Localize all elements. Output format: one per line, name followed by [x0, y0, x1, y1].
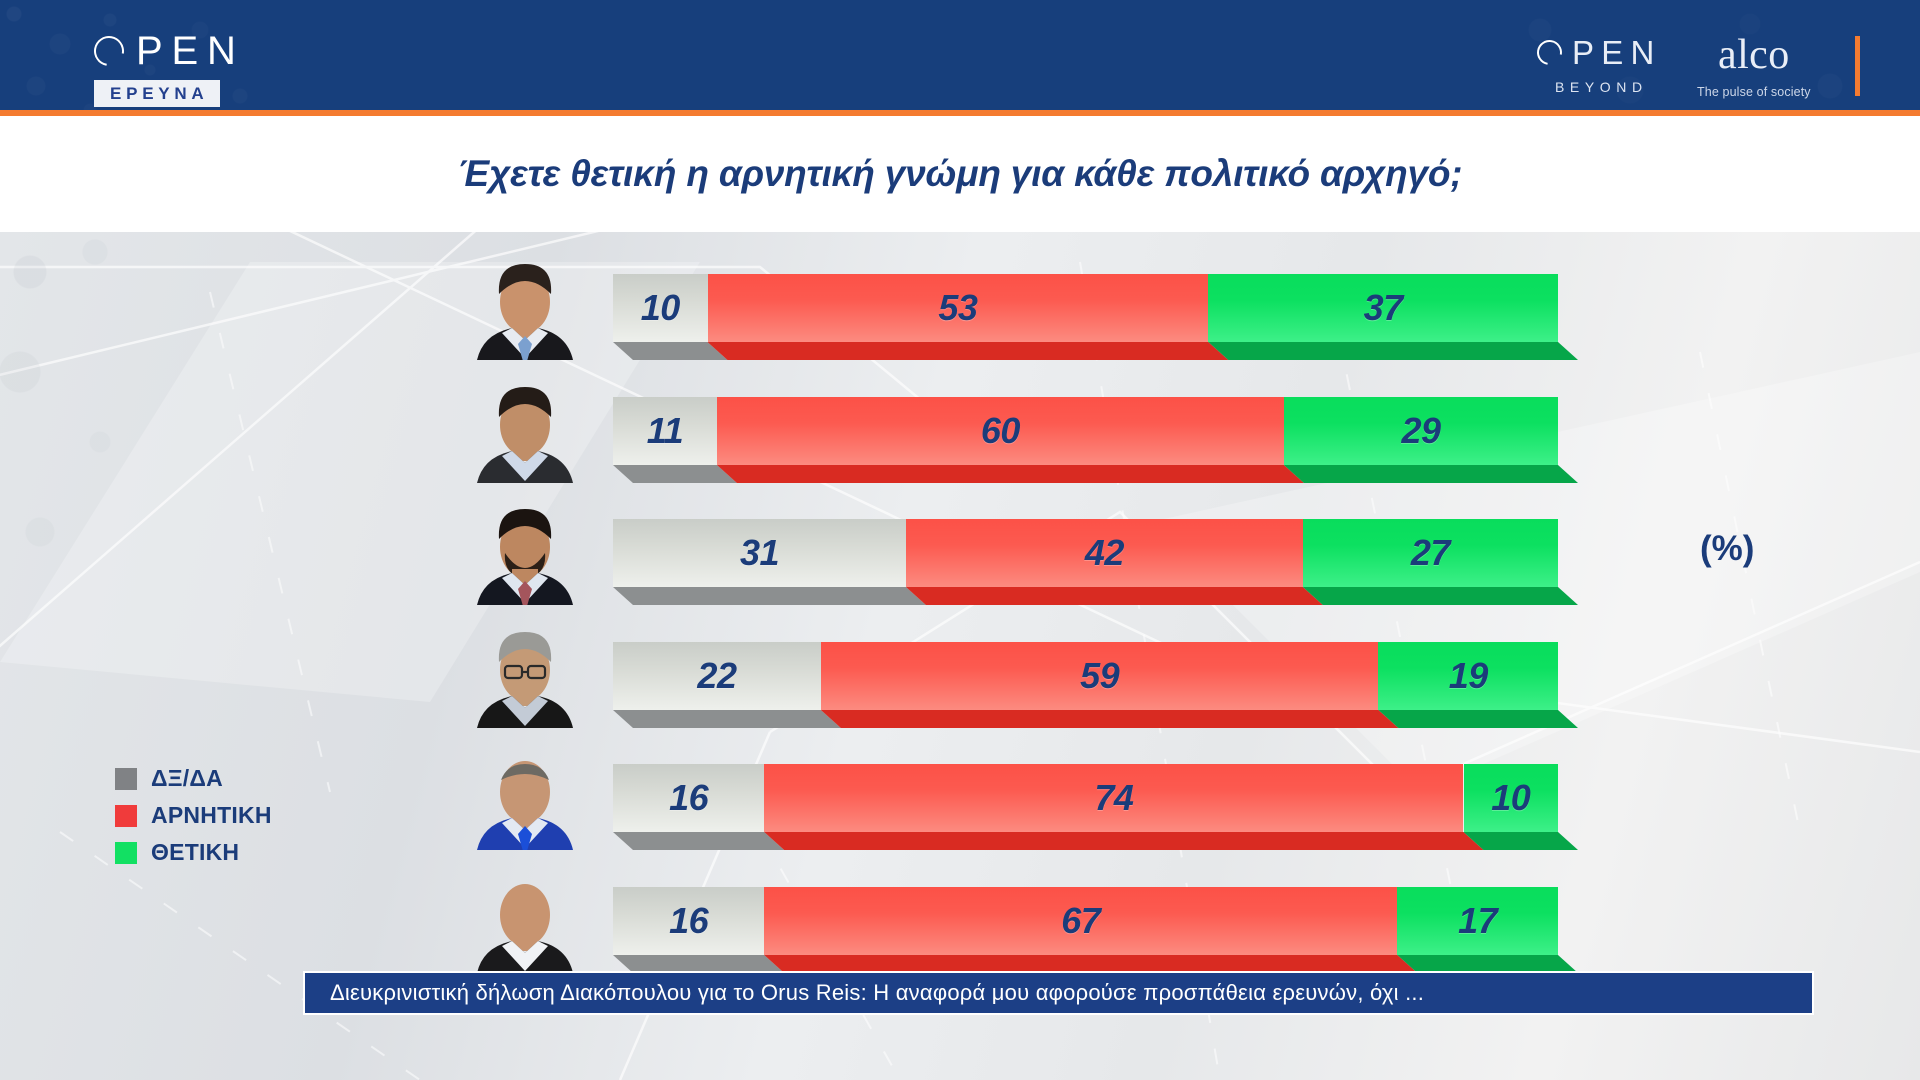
bar-segment-negative: 59	[821, 642, 1379, 710]
open-wordmark: PEN	[94, 30, 245, 72]
alco-tagline: The pulse of society	[1697, 85, 1811, 99]
bar-segment-positive: 37	[1208, 274, 1558, 342]
bar-segment-dk: 31	[613, 519, 906, 587]
bar-row: 314227	[0, 519, 1920, 603]
page-title: Έχετε θετική η αρνητική γνώμη για κάθε π…	[0, 116, 1920, 232]
bar-segment-dk: 16	[613, 887, 764, 955]
leader-portrait	[455, 495, 595, 605]
bar-segment-negative: 74	[764, 764, 1463, 832]
alco-name: alco	[1697, 34, 1811, 76]
bar-segment-positive: 29	[1284, 397, 1558, 465]
bar-segment-negative: 67	[764, 887, 1397, 955]
bar-row: 167410	[0, 764, 1920, 848]
bar-segment-dk: 10	[613, 274, 708, 342]
title-band: Έχετε θετική η αρνητική γνώμη για κάθε π…	[0, 116, 1920, 232]
chart-stage: ΔΞ/ΔΑ ΑΡΝΗΤΙΚΗ ΘΕΤΙΚΗ (%) 105337	[0, 232, 1920, 1080]
leader-portrait	[455, 740, 595, 850]
bar-3d-base	[613, 587, 1578, 605]
open-beyond-logo: PEN BEYOND	[1537, 34, 1662, 95]
stacked-bar: 314227	[613, 519, 1558, 587]
leader-portrait	[455, 373, 595, 483]
open-beyond-o-glyph-icon	[1532, 35, 1567, 70]
bar-segment-negative: 53	[708, 274, 1209, 342]
news-ticker: Διευκρινιστική δήλωση Διακόπουλου για το…	[303, 971, 1814, 1015]
stacked-bar: 167410	[613, 764, 1558, 832]
bar-segment-positive: 19	[1378, 642, 1558, 710]
leader-portrait	[455, 250, 595, 360]
bar-3d-base	[613, 955, 1578, 973]
stacked-bar: 105337	[613, 274, 1558, 342]
stacked-bar: 225919	[613, 642, 1558, 710]
bar-segment-dk: 22	[613, 642, 821, 710]
open-wordmark-text: PEN	[136, 31, 245, 71]
bar-3d-base	[613, 710, 1578, 728]
open-beyond-wordmark: PEN	[1537, 34, 1662, 70]
bar-segment-dk: 16	[613, 764, 764, 832]
bar-row: 116029	[0, 397, 1920, 481]
header-orange-divider	[1855, 36, 1860, 96]
bar-row: 225919	[0, 642, 1920, 726]
bar-segment-positive: 27	[1303, 519, 1558, 587]
stacked-bar: 116029	[613, 397, 1558, 465]
bar-segment-dk: 11	[613, 397, 717, 465]
leader-portrait	[455, 863, 595, 973]
bar-3d-base	[613, 832, 1578, 850]
bar-3d-base	[613, 465, 1578, 483]
page-header: PEN ΕΡΕΥΝΑ PEN BEYOND alco The pulse of …	[0, 0, 1920, 116]
open-o-glyph-icon	[88, 30, 130, 72]
stacked-bar: 166717	[613, 887, 1558, 955]
bar-row: 166717	[0, 887, 1920, 971]
news-ticker-text: Διευκρινιστική δήλωση Διακόπουλου για το…	[330, 980, 1424, 1006]
bar-segment-positive: 17	[1397, 887, 1558, 955]
leader-portrait	[455, 618, 595, 728]
bar-segment-positive: 10	[1464, 764, 1559, 832]
ereyna-badge: ΕΡΕΥΝΑ	[94, 80, 220, 107]
bar-segment-negative: 60	[717, 397, 1284, 465]
bar-segment-negative: 42	[906, 519, 1303, 587]
alco-logo: alco The pulse of society	[1697, 34, 1811, 99]
open-beyond-sub: BEYOND	[1541, 79, 1662, 95]
bar-row: 105337	[0, 274, 1920, 358]
bar-3d-base	[613, 342, 1578, 360]
open-ereyna-logo: PEN ΕΡΕΥΝΑ	[94, 30, 245, 107]
